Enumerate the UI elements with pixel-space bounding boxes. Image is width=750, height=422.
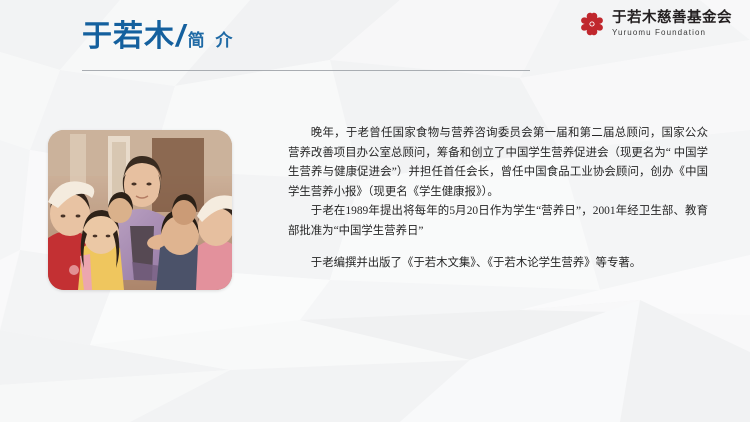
foundation-logo: 于若木慈善基金会 Yuruomu Foundation xyxy=(577,9,732,39)
portrait-photo-illustration xyxy=(48,130,232,290)
page-title-separator: / xyxy=(176,20,185,51)
yuruomu-flower-logo-icon xyxy=(577,9,607,39)
foundation-name-cn: 于若木慈善基金会 xyxy=(612,11,732,26)
paragraph-1: 晚年，于老曾任国家食物与营养咨询委员会第一届和第二届总顾问，国家公众营养改善项目… xyxy=(288,124,708,202)
portrait-photo xyxy=(48,130,232,290)
page-title: 于若木 / 简 介 xyxy=(82,20,235,52)
page-title-main: 于若木 xyxy=(82,22,175,52)
body-text-block: 晚年，于老曾任国家食物与营养咨询委员会第一届和第二届总顾问，国家公众营养改善项目… xyxy=(288,124,708,274)
paragraph-3: 于老编撰并出版了《于若木文集》、《于若木论学生营养》等专著。 xyxy=(288,254,708,274)
slide-canvas: 于若木 / 简 介 于若木慈善基金会 Yuruomu Foundation xyxy=(0,0,750,422)
page-title-sub: 简 介 xyxy=(188,32,236,49)
paragraph-2: 于老在1989年提出将每年的5月20日作为学生“营养日”，2001年经卫生部、教… xyxy=(288,202,708,241)
foundation-logo-text: 于若木慈善基金会 Yuruomu Foundation xyxy=(612,11,732,37)
title-divider xyxy=(82,70,530,71)
foundation-name-en: Yuruomu Foundation xyxy=(612,29,706,37)
